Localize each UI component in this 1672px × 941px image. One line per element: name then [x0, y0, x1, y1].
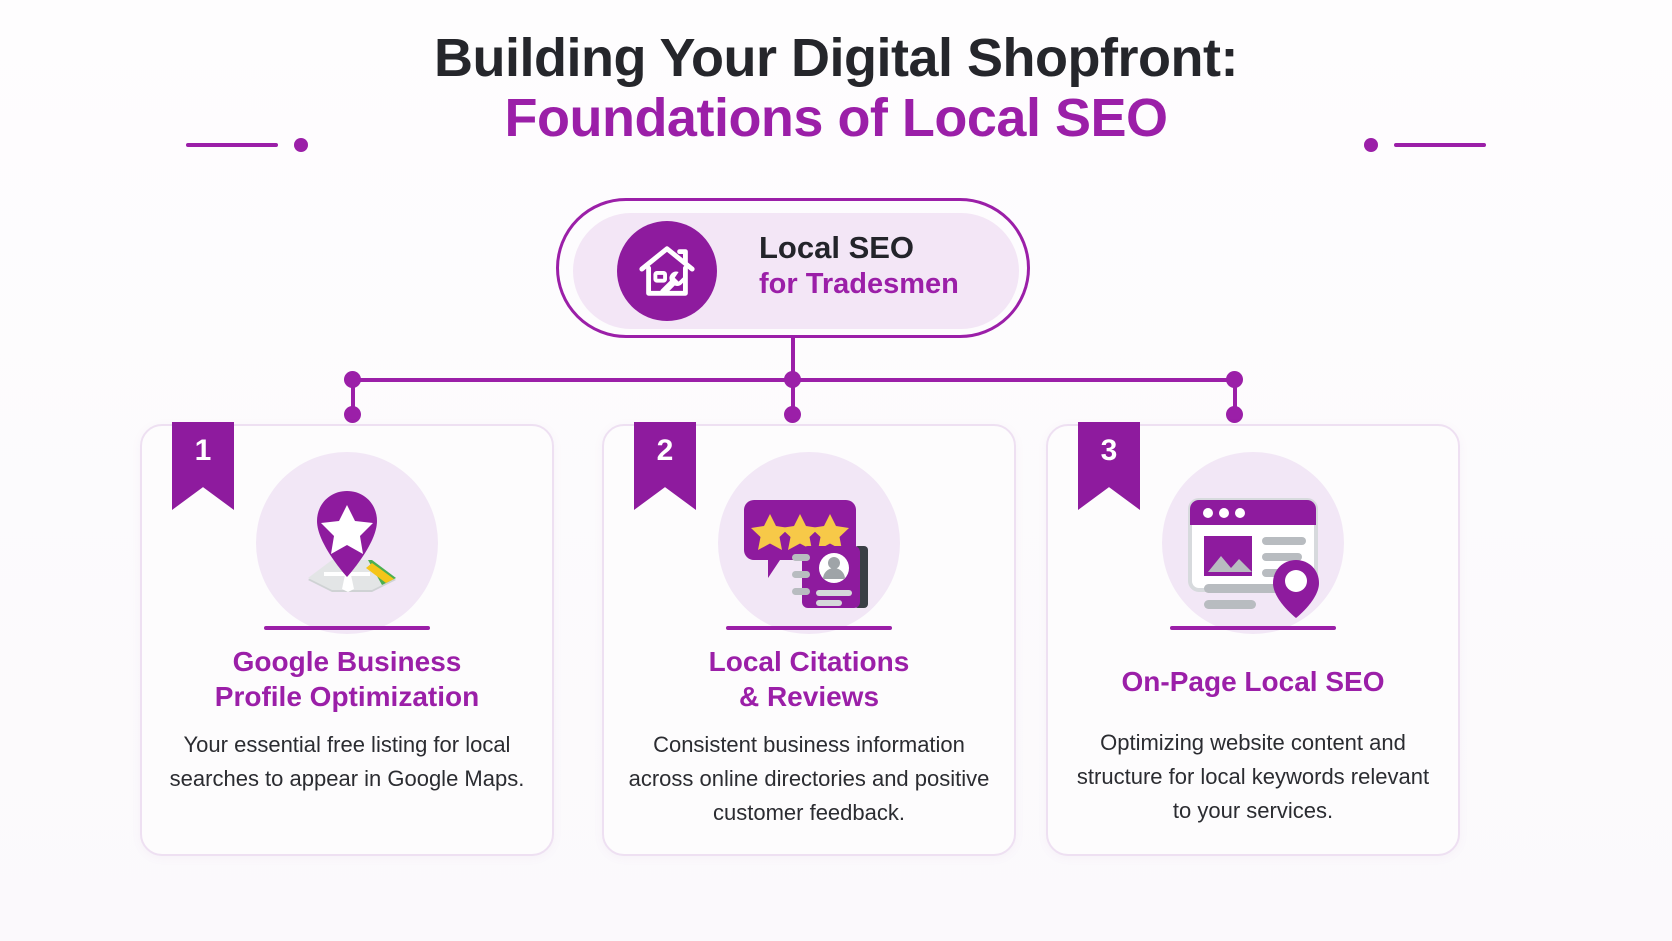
ornament-dot-icon: [294, 138, 308, 152]
card-local-citations-reviews[interactable]: 2: [602, 424, 1016, 856]
ornament-left: [186, 138, 308, 152]
card-title-line2: & Reviews: [739, 681, 879, 712]
ribbon-badge-1: 1: [172, 422, 234, 510]
ribbon-number: 1: [195, 434, 212, 510]
infographic-root: Building Your Digital Shopfront: Foundat…: [0, 0, 1672, 941]
house-wrench-icon: [617, 221, 717, 321]
card-divider: [1170, 626, 1336, 630]
card-list: 1 Google Business: [0, 424, 1672, 924]
card-divider: [264, 626, 430, 630]
connector-node-icon: [784, 406, 801, 423]
ornament-line-icon: [1394, 143, 1486, 147]
connector-node-icon: [344, 371, 361, 388]
map-pin-star-icon: [256, 452, 438, 634]
card-description-1: Your essential free listing for local se…: [164, 728, 530, 796]
card-title-2: Local Citations & Reviews: [622, 644, 996, 715]
connector-node-icon: [1226, 371, 1243, 388]
card-title-line1: On-Page Local SEO: [1122, 666, 1385, 697]
card-title-line1: Google Business: [233, 646, 462, 677]
card-description-3: Optimizing website content and structure…: [1070, 726, 1436, 828]
central-badge-subtitle: for Tradesmen: [759, 267, 959, 302]
ribbon-number: 3: [1101, 434, 1118, 510]
ribbon-badge-3: 3: [1078, 422, 1140, 510]
page-title: Building Your Digital Shopfront: Foundat…: [0, 28, 1672, 149]
card-description-2: Consistent business information across o…: [626, 728, 992, 830]
title-line-primary: Building Your Digital Shopfront:: [0, 28, 1672, 88]
ornament-right: [1364, 138, 1486, 152]
central-badge-text: Local SEO for Tradesmen: [759, 229, 959, 302]
ribbon-number: 2: [657, 434, 674, 510]
ribbon-badge-2: 2: [634, 422, 696, 510]
card-title-line1: Local Citations: [709, 646, 910, 677]
card-divider: [726, 626, 892, 630]
card-on-page-local-seo[interactable]: 3: [1046, 424, 1460, 856]
connector-node-icon: [784, 371, 801, 388]
central-badge-inner: Local SEO for Tradesmen: [573, 213, 1019, 329]
central-badge-title: Local SEO: [759, 229, 959, 267]
card-title-3: On-Page Local SEO: [1066, 664, 1440, 699]
ornament-line-icon: [186, 143, 278, 147]
card-title-line2: Profile Optimization: [215, 681, 479, 712]
ornament-dot-icon: [1364, 138, 1378, 152]
card-google-business-profile[interactable]: 1 Google Business: [140, 424, 554, 856]
card-title-1: Google Business Profile Optimization: [160, 644, 534, 715]
browser-window-location-pin-icon: [1162, 452, 1344, 634]
connector-node-icon: [1226, 406, 1243, 423]
review-stars-contact-book-icon: [718, 452, 900, 634]
connector-node-icon: [344, 406, 361, 423]
central-badge: Local SEO for Tradesmen: [556, 198, 1030, 338]
